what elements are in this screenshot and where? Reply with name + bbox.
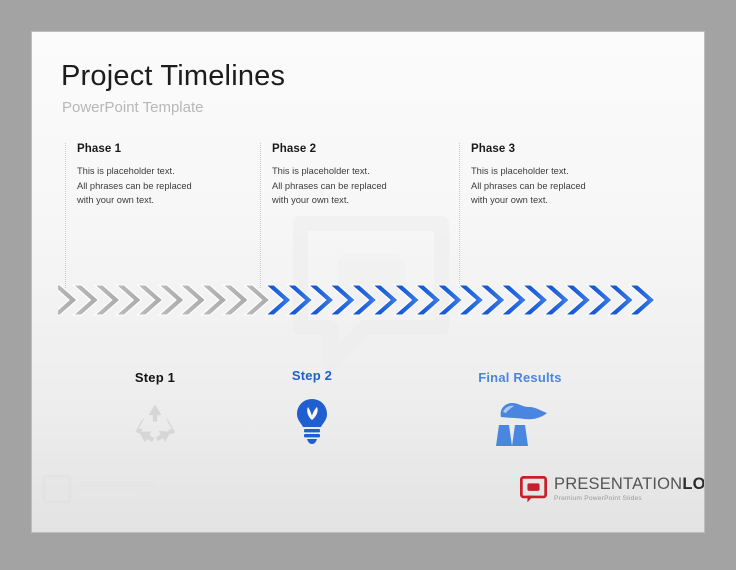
phase-body-1: This is placeholder text. All phrases ca… — [77, 164, 261, 208]
timeline-chevron-arrow — [58, 282, 680, 318]
phase-columns: Phase 1 This is placeholder text. All ph… — [32, 143, 704, 293]
step-label-2: Step 2 — [237, 368, 387, 383]
phase-column-3: Phase 3 This is placeholder text. All ph… — [459, 143, 655, 288]
step-item-2: Step 2 — [237, 368, 387, 447]
phase-column-1: Phase 1 This is placeholder text. All ph… — [65, 143, 261, 288]
logo-speech-bubble-icon — [520, 476, 547, 503]
step-item-1: Step 1 — [80, 370, 230, 449]
phase-title-3: Phase 3 — [471, 143, 655, 155]
phase-title-2: Phase 2 — [272, 143, 456, 155]
step-label-3: Final Results — [445, 370, 595, 385]
lightbulb-icon — [237, 395, 387, 447]
phase-body-3: This is placeholder text. All phrases ca… — [471, 164, 655, 208]
steps-row: Step 1 Step 2 — [32, 362, 704, 492]
step-label-1: Step 1 — [80, 370, 230, 385]
logo-wordmark: PRESENTATIONLOAD® — [554, 476, 704, 493]
presentation-slide: Project Timelines PowerPoint Template Ph… — [32, 32, 704, 532]
screenshot-stage: Project Timelines PowerPoint Template Ph… — [0, 0, 736, 570]
recycle-icon — [80, 397, 230, 449]
logo-brand-first: PRESENTATION — [554, 475, 682, 493]
phase-title-1: Phase 1 — [77, 143, 261, 155]
slide-subtitle: PowerPoint Template — [62, 99, 203, 116]
logo-tagline: Premium PowerPoint Slides — [554, 496, 704, 503]
step-item-3: Final Results — [445, 370, 595, 449]
phase-body-2: This is placeholder text. All phrases ca… — [272, 164, 456, 208]
logo-brand-second: LOAD — [682, 475, 704, 493]
slide-title: Project Timelines — [61, 60, 285, 93]
factory-icon — [445, 397, 595, 449]
presentationload-logo: PRESENTATIONLOAD® Premium PowerPoint Sli… — [520, 476, 704, 503]
phase-column-2: Phase 2 This is placeholder text. All ph… — [260, 143, 456, 288]
